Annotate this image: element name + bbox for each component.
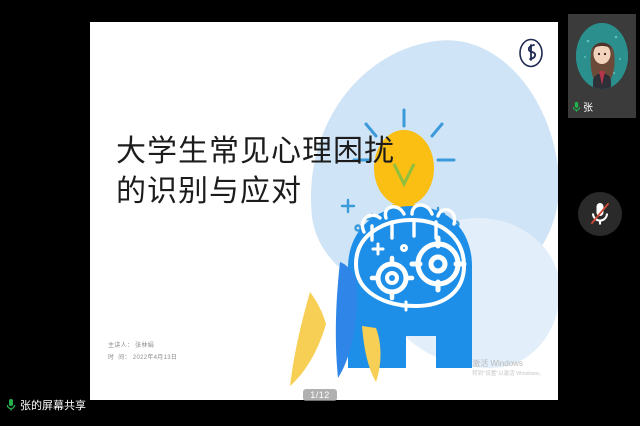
slide-page-counter: 1/12 [303, 389, 337, 401]
participant-name: 张 [583, 99, 593, 114]
participant-footer: 张 [572, 99, 593, 114]
slide-title: 大学生常见心理困扰 的识别与应对 [116, 132, 416, 212]
meeting-stage: 大学生常见心理困扰 的识别与应对 主讲人： 张林娟 时 间： 2022年4月13… [0, 0, 640, 426]
windows-activation-watermark: 激活 Windows 转到"设置"以激活 Windows。 [472, 358, 544, 378]
microphone-muted-icon [588, 200, 612, 228]
mute-button[interactable] [578, 192, 622, 236]
shared-slide[interactable]: 大学生常见心理困扰 的识别与应对 主讲人： 张林娟 时 间： 2022年4月13… [90, 22, 558, 400]
microphone-active-icon [572, 101, 581, 113]
oval-ribbon-logo-icon [518, 38, 544, 68]
date-line: 时 间： 2022年4月13日 [108, 353, 177, 364]
participant-video-tile[interactable]: 张 [568, 14, 636, 118]
activation-title: 激活 Windows [472, 358, 544, 370]
microphone-active-icon [6, 398, 16, 412]
slide-meta-block: 主讲人： 张林娟 时 间： 2022年4月13日 [108, 341, 177, 364]
avatar [576, 23, 628, 89]
share-indicator-label: 张的屏幕共享 [20, 397, 86, 413]
avatar-illustration [576, 23, 628, 89]
activation-subtitle: 转到"设置"以激活 Windows。 [472, 370, 544, 378]
screen-share-indicator: 张的屏幕共享 [6, 397, 86, 413]
presenter-line: 主讲人： 张林娟 [108, 341, 177, 352]
slide-illustration [286, 68, 526, 388]
